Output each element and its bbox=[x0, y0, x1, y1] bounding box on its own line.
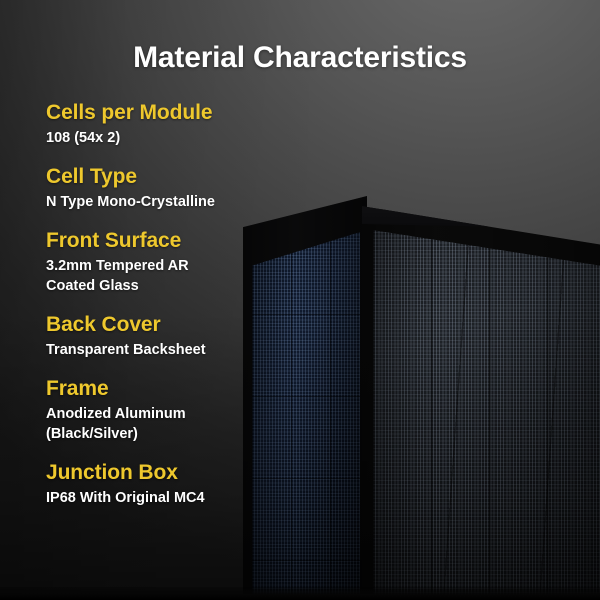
spec-label-cells-per-module: Cells per Module bbox=[46, 100, 296, 125]
page-title: Material Characteristics bbox=[0, 41, 600, 75]
spec-item-junction-box: Junction Box IP68 With Original MC4 bbox=[46, 460, 296, 508]
spec-value-cell-type: N Type Mono-Crystalline bbox=[46, 192, 296, 212]
spec-label-junction-box: Junction Box bbox=[46, 460, 296, 485]
spec-label-cell-type: Cell Type bbox=[46, 164, 296, 189]
material-characteristics-infographic: Material Characteristics Cells per Modul… bbox=[0, 0, 600, 600]
spec-item-back-cover: Back Cover Transparent Backsheet bbox=[46, 312, 296, 360]
spec-label-front-surface: Front Surface bbox=[46, 228, 296, 253]
spec-value-front-surface: 3.2mm Tempered AR Coated Glass bbox=[46, 256, 296, 296]
spec-item-cell-type: Cell Type N Type Mono-Crystalline bbox=[46, 164, 296, 212]
spec-label-frame: Frame bbox=[46, 376, 296, 401]
spec-item-cells-per-module: Cells per Module 108 (54x 2) bbox=[46, 100, 296, 148]
spec-label-back-cover: Back Cover bbox=[46, 312, 296, 337]
spec-value-back-cover: Transparent Backsheet bbox=[46, 340, 296, 360]
spec-value-junction-box: IP68 With Original MC4 bbox=[46, 488, 296, 508]
spec-item-front-surface: Front Surface 3.2mm Tempered AR Coated G… bbox=[46, 228, 296, 296]
spec-list: Cells per Module 108 (54x 2) Cell Type N… bbox=[46, 100, 296, 524]
content-layer: Material Characteristics Cells per Modul… bbox=[0, 0, 600, 600]
spec-value-frame: Anodized Aluminum (Black/Silver) bbox=[46, 404, 296, 444]
spec-value-cells-per-module: 108 (54x 2) bbox=[46, 128, 296, 148]
spec-item-frame: Frame Anodized Aluminum (Black/Silver) bbox=[46, 376, 296, 444]
